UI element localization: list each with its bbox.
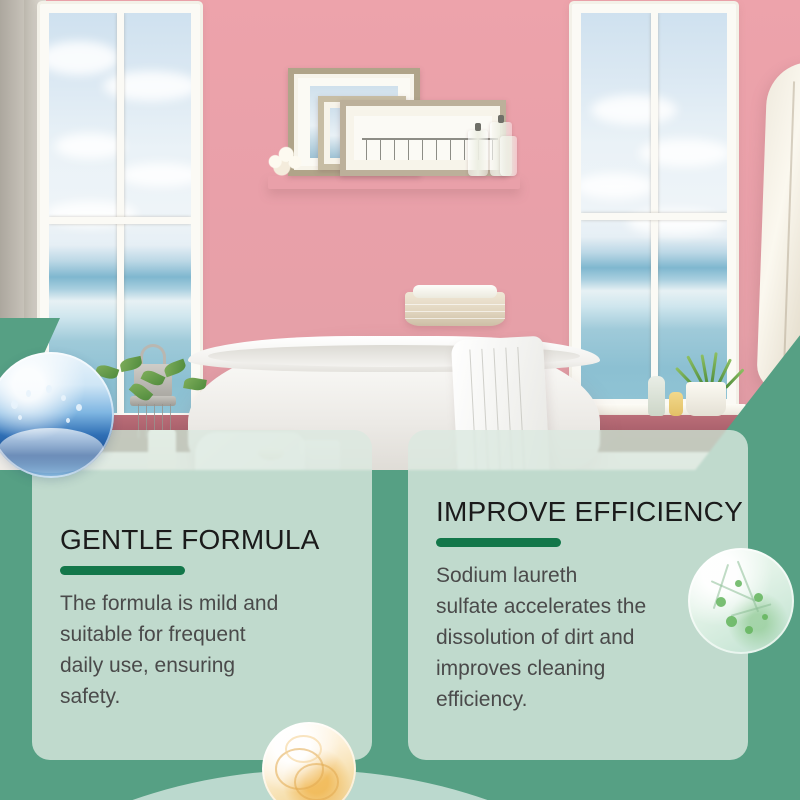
card-accent-rule <box>60 566 185 575</box>
feature-card-gentle-formula[interactable]: GENTLE FORMULA The formula is mild and s… <box>32 430 372 760</box>
towel-basket <box>405 292 505 326</box>
soap-bottle-clear <box>500 136 517 176</box>
card-title: GENTLE FORMULA <box>60 524 320 556</box>
banner-canvas: GENTLE FORMULA The formula is mild and s… <box>0 0 800 800</box>
coral-decor <box>262 140 306 176</box>
water-splash-bubble-icon <box>0 352 114 478</box>
card-body-text: The formula is mild and suitable for fre… <box>60 588 350 712</box>
green-arc-outer <box>0 770 800 800</box>
card-body-text: Sodium laureth sulfate accelerates the d… <box>436 560 726 715</box>
background-photo <box>0 0 800 500</box>
floating-shelf <box>268 176 520 189</box>
green-molecule-bubble-icon <box>688 548 794 654</box>
card-title: IMPROVE EFFICIENCY <box>436 496 743 528</box>
right-window <box>572 4 736 408</box>
yellow-vase <box>669 392 683 416</box>
card-accent-rule <box>436 538 561 547</box>
ceramic-vase <box>648 376 665 416</box>
right-window-view <box>581 13 727 399</box>
soap-bottle-small <box>468 130 488 176</box>
